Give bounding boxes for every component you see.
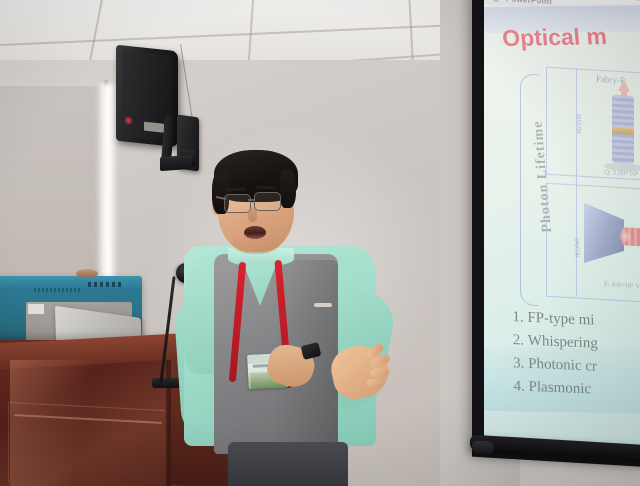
podium-edge [166,352,171,486]
slide-bullet-list: FP-type mi Whispering Photonic cr Plasmo… [505,306,640,406]
glasses-bridge [248,199,255,201]
speaker-led-icon [126,118,131,124]
presenter-eyebrow [256,186,276,190]
glasses-lens-left [224,194,251,213]
diagram-axis-label-top: n(r)/n0 [575,63,583,133]
cabinet-vent [34,288,80,292]
cabinet-label [28,304,44,314]
cabinet-controls[interactable] [88,282,124,287]
presenter-trousers [228,442,348,486]
diagram-active-layer [612,127,634,135]
apple-logo-icon[interactable] [492,0,500,3]
diagram-axis-label-bottom: n(r)/n0 [573,187,581,257]
presenter-mouth [244,226,266,239]
slide-title: Optical m [501,22,640,53]
diagram-glow [618,229,632,244]
desk-object [76,269,98,278]
presenter-hair-side [280,170,296,208]
presenter [176,150,386,486]
presenter-nose [248,208,257,222]
bullet-ordered-list: FP-type mi Whispering Photonic cr Plasmo… [505,306,640,406]
menu-bar-app-name[interactable]: PowerPoint [506,0,552,6]
projection-screen: PowerPoint Optical m Photon Lifetime Fab… [484,0,640,449]
presenter-teeth [314,303,332,307]
finger [370,367,390,379]
presentation-photo: PowerPoint Optical m Photon Lifetime Fab… [0,0,640,486]
projection-screen-handle[interactable] [472,440,494,454]
slide-brace [520,73,539,306]
finger [366,379,383,388]
glasses-lens-right [254,192,281,211]
